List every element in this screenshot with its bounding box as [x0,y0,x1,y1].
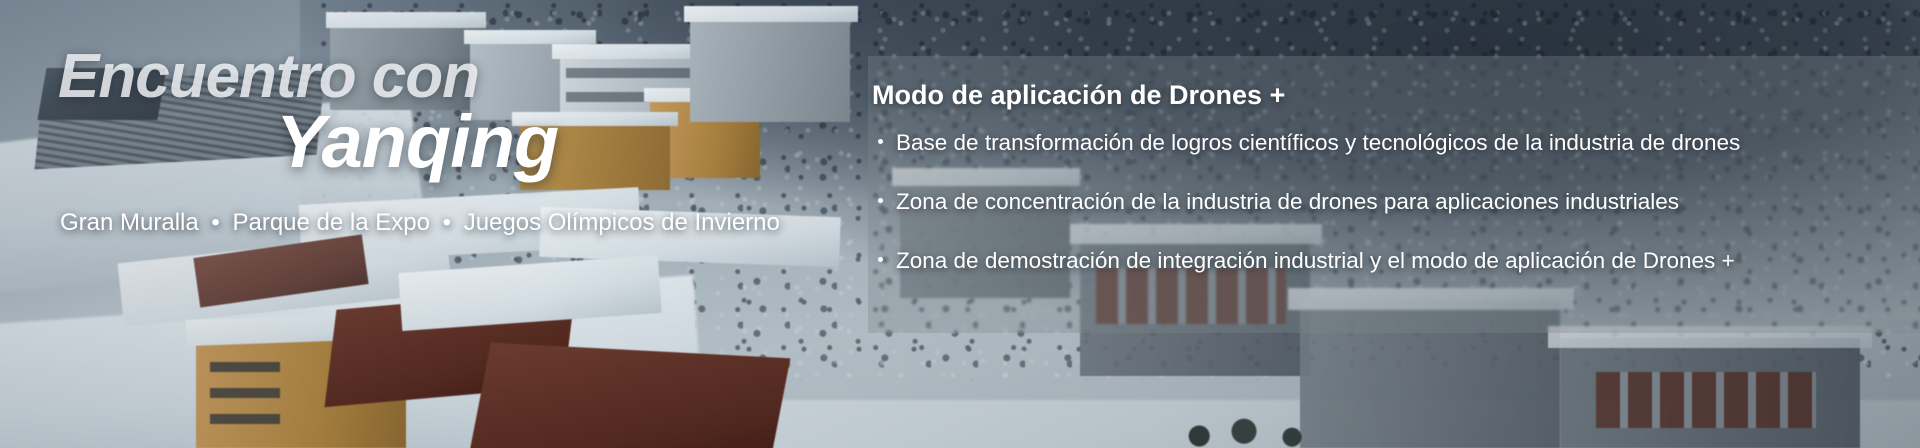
info-panel-bullet-list: Base de transformación de logros científ… [872,126,1772,303]
bullet-text: Zona de concentración de la industria de… [896,189,1679,214]
info-panel-heading: Modo de aplicación de Drones + [872,80,1285,111]
list-item: Zona de concentración de la industria de… [872,185,1772,218]
bullet-text: Zona de demostración de integración indu… [896,248,1735,273]
hero-banner: Encuentro con Yanqing Gran Muralla • Par… [0,0,1920,448]
bullet-text: Base de transformación de logros científ… [896,130,1740,155]
list-item: Base de transformación de logros científ… [872,126,1772,159]
hero-title-line-2: Yanqing [276,103,558,181]
subtitle-item-3: Juegos Olímpicos de Invierno [464,209,780,236]
hero-subtitle: Gran Muralla • Parque de la Expo • Juego… [60,209,780,237]
subtitle-separator-1: • [205,209,225,236]
subtitle-item-2: Parque de la Expo [232,209,429,236]
bullet-dot-icon [878,257,883,262]
bullet-dot-icon [878,139,883,144]
hero-title-block: Encuentro con Yanqing Gran Muralla • Par… [0,0,760,448]
bullet-dot-icon [878,198,883,203]
conifer-cluster [1180,388,1340,448]
list-item: Zona de demostración de integración indu… [872,244,1772,277]
subtitle-item-1: Gran Muralla [60,209,199,236]
subtitle-separator-2: • [437,209,457,236]
right-brick-2 [1596,372,1816,428]
